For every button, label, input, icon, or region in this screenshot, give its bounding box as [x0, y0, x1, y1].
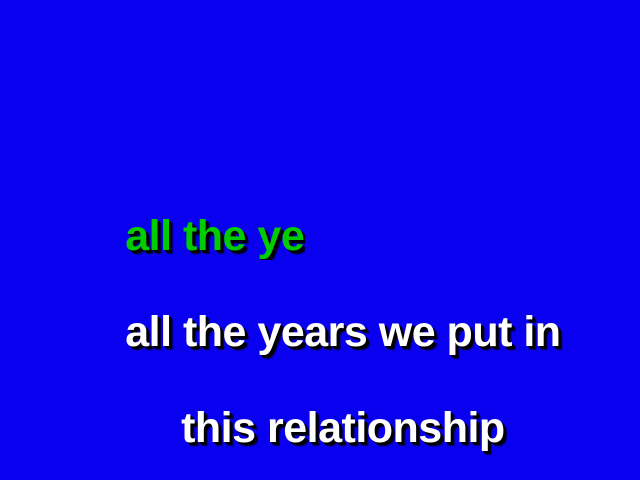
lyric-line-3-wrap: Who knew we'd make it this far Who knew … — [48, 402, 640, 480]
lyric-line-upcoming: Who knew we'd make it this far Who knew … — [0, 354, 640, 480]
karaoke-screen: all the years we put in all the years we… — [0, 0, 640, 480]
lyric-line-1-highlight: all the years we put in — [125, 212, 305, 260]
lyric-line-1-highlight-text: all the years we put in — [125, 212, 305, 260]
